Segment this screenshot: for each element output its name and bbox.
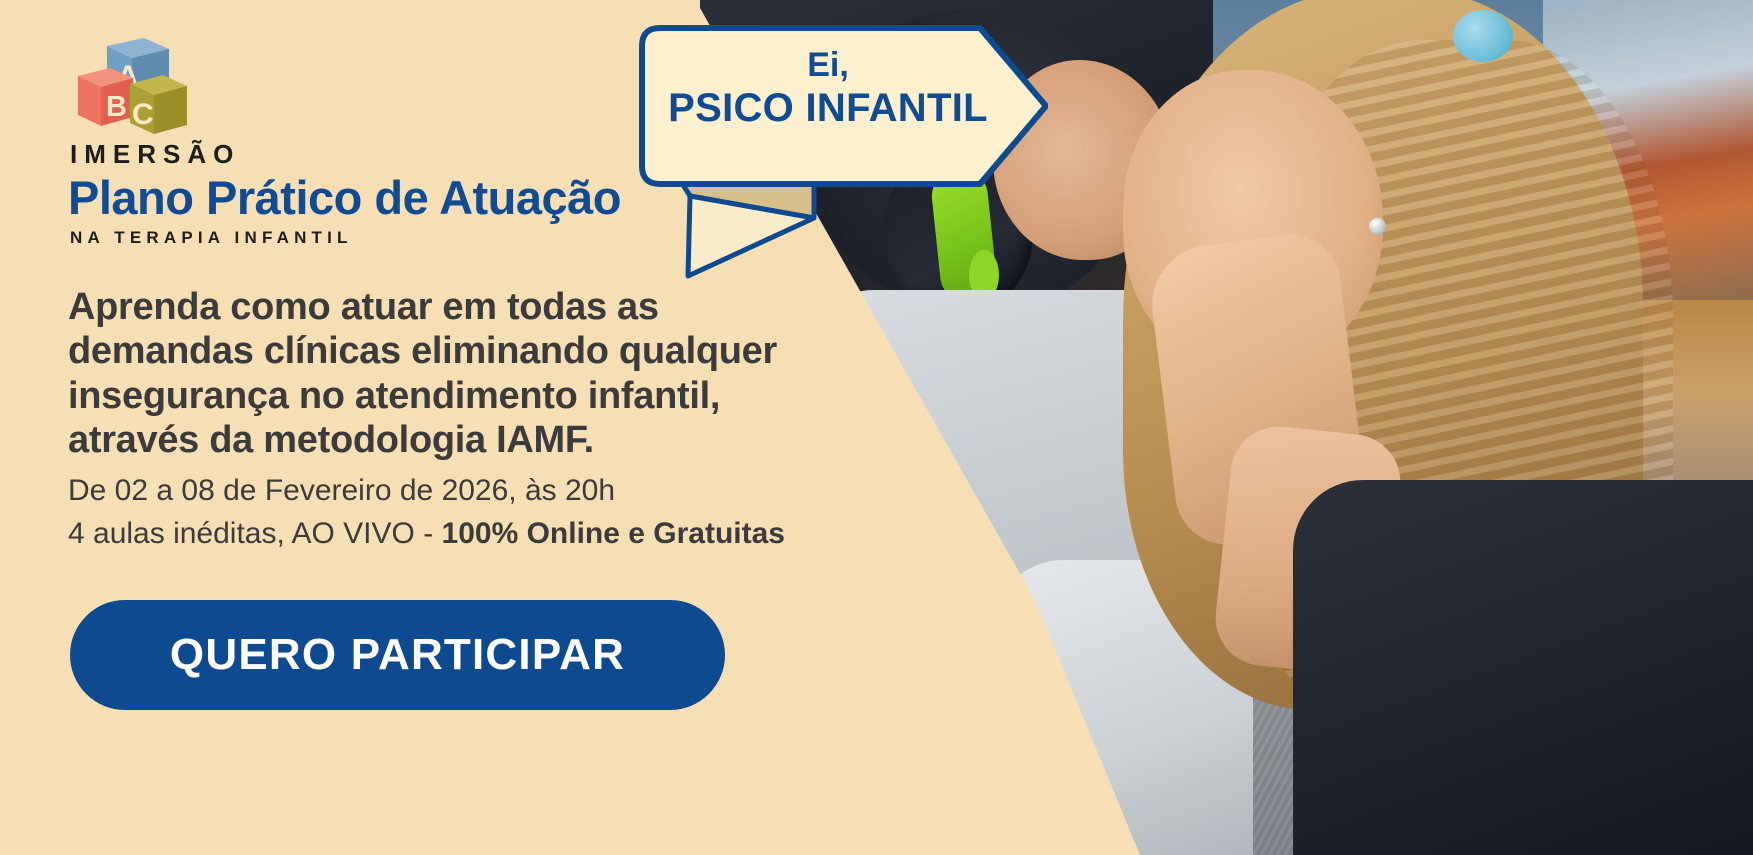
girl-hair-clip <box>1453 10 1513 62</box>
quero-participar-button[interactable]: QUERO PARTICIPAR <box>70 600 725 710</box>
pitch-line: Aprenda como atuar em todas as <box>68 285 828 329</box>
page-title: Plano Prático de Atuação <box>68 170 621 225</box>
pitch-line: através da metodologia IAMF. <box>68 418 828 462</box>
speech-bubble <box>628 18 1048 288</box>
girl-shirt <box>1293 480 1753 855</box>
page-subtitle: NA TERAPIA INFANTIL <box>70 228 353 248</box>
pitch-line: insegurança no atendimento infantil, <box>68 374 828 418</box>
schedule-date: De 02 a 08 de Fevereiro de 2026, às 20h <box>68 470 968 513</box>
cta-label: QUERO PARTICIPAR <box>170 630 625 680</box>
girl-earring <box>1369 218 1386 235</box>
bubble-body <box>642 28 1046 184</box>
eyebrow-imersao: IMERSÃO <box>70 139 240 170</box>
abc-blocks-logo: A B C <box>70 30 188 135</box>
schedule-text: De 02 a 08 de Fevereiro de 2026, às 20h … <box>68 470 968 555</box>
schedule-classes-highlight: 100% Online e Gratuitas <box>442 517 785 550</box>
svg-text:B: B <box>106 91 127 123</box>
schedule-classes-prefix: 4 aulas inéditas, AO VIVO - <box>68 517 442 550</box>
promo-banner: A B C IMERSÃO Plano Prático de Atuação N… <box>0 0 1753 855</box>
svg-text:C: C <box>132 98 154 131</box>
block-c-olive: C <box>130 75 187 134</box>
block-b-red: B <box>78 68 133 126</box>
pitch-line: demandas clínicas eliminando qualquer <box>68 329 828 373</box>
schedule-classes: 4 aulas inéditas, AO VIVO - 100% Online … <box>68 513 968 556</box>
pitch-text: Aprenda como atuar em todas as demandas … <box>68 285 828 463</box>
